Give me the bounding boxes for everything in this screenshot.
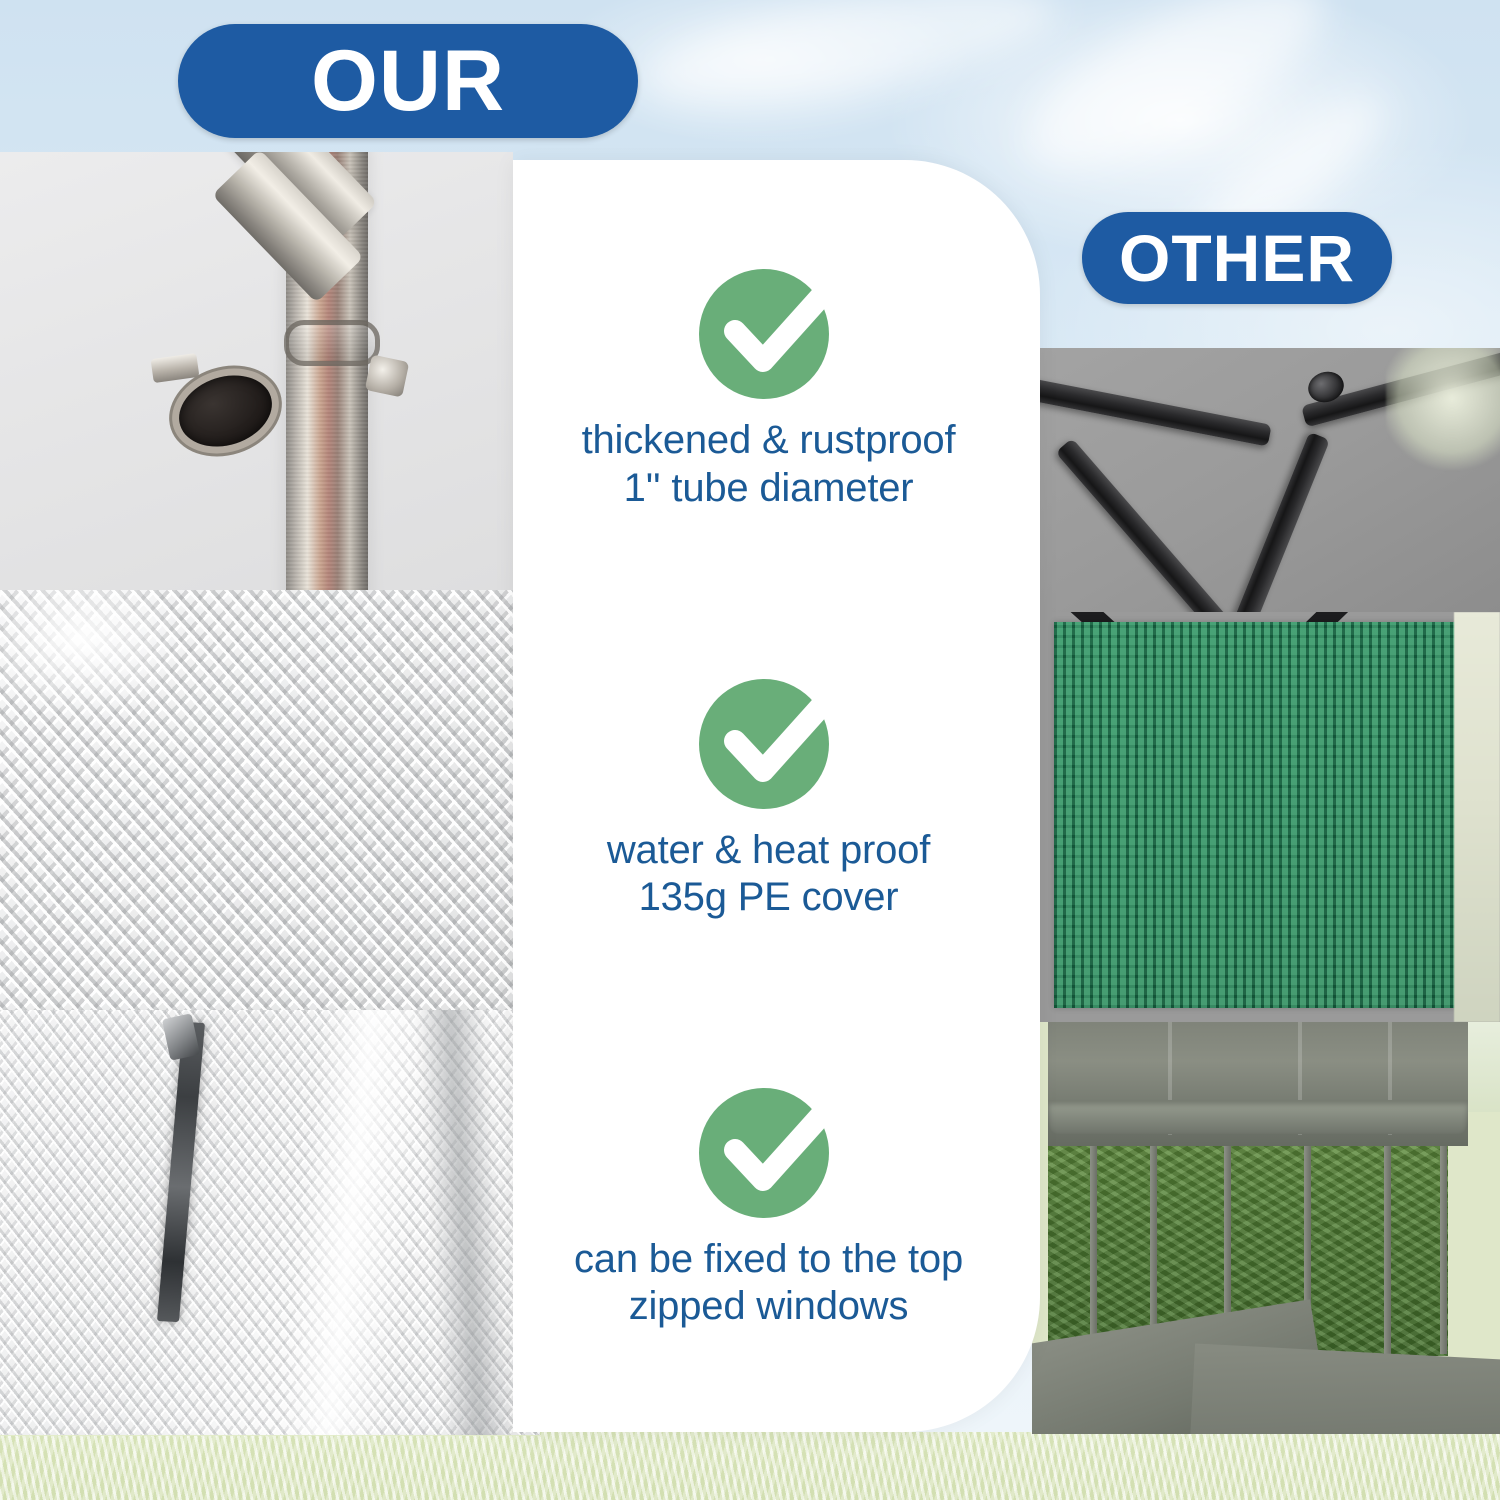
frame-post xyxy=(1090,1134,1097,1364)
check-glyph xyxy=(711,265,841,395)
frame-post xyxy=(1440,1134,1447,1354)
green-shade-mesh-photo xyxy=(1032,612,1500,1022)
bolt-head-right xyxy=(365,354,410,397)
feature-item: thickened & rustproof 1'' tube diameter xyxy=(523,253,1014,511)
check-glyph xyxy=(711,675,841,805)
thin-black-tube-frame-photo xyxy=(1032,348,1500,612)
green-check-icon xyxy=(693,1072,845,1220)
green-woven-mesh-texture xyxy=(1054,622,1468,1008)
greenhouse-interior-crops-photo xyxy=(1032,1022,1500,1434)
tube-clamp xyxy=(284,320,380,366)
badge-our: OUR xyxy=(178,24,638,138)
bolt-head-left xyxy=(151,353,200,383)
green-check-icon xyxy=(693,663,845,811)
feature-item: can be fixed to the top zipped windows xyxy=(523,1072,1014,1330)
cloud-wisp xyxy=(635,0,1064,126)
feature-text: thickened & rustproof 1'' tube diameter xyxy=(582,417,956,511)
feature-panel: thickened & rustproof 1'' tube diameter … xyxy=(513,160,1040,1432)
feature-item: water & heat proof 135g PE cover xyxy=(523,663,1014,921)
white-pe-diamond-weave-fabric-photo xyxy=(0,590,513,1010)
badge-other: OTHER xyxy=(1082,212,1392,304)
galvanized-steel-tube-joint-photo xyxy=(0,152,513,590)
frame-post xyxy=(1384,1134,1391,1376)
gray-tarp-ground-front xyxy=(1189,1343,1500,1434)
background-foliage xyxy=(1454,612,1500,1022)
feature-text: water & heat proof 135g PE cover xyxy=(607,827,930,921)
zipped-window-mesh-photo xyxy=(0,1010,540,1435)
tarp-gathered-hem xyxy=(1048,1100,1468,1134)
feature-text: can be fixed to the top zipped windows xyxy=(574,1236,963,1330)
infographic-canvas: thickened & rustproof 1'' tube diameter … xyxy=(0,0,1500,1500)
fabric-highlight xyxy=(0,590,190,720)
background-foliage xyxy=(1386,348,1500,470)
green-check-icon xyxy=(693,253,845,401)
grass-footer xyxy=(0,1432,1500,1500)
check-glyph xyxy=(711,1084,841,1214)
